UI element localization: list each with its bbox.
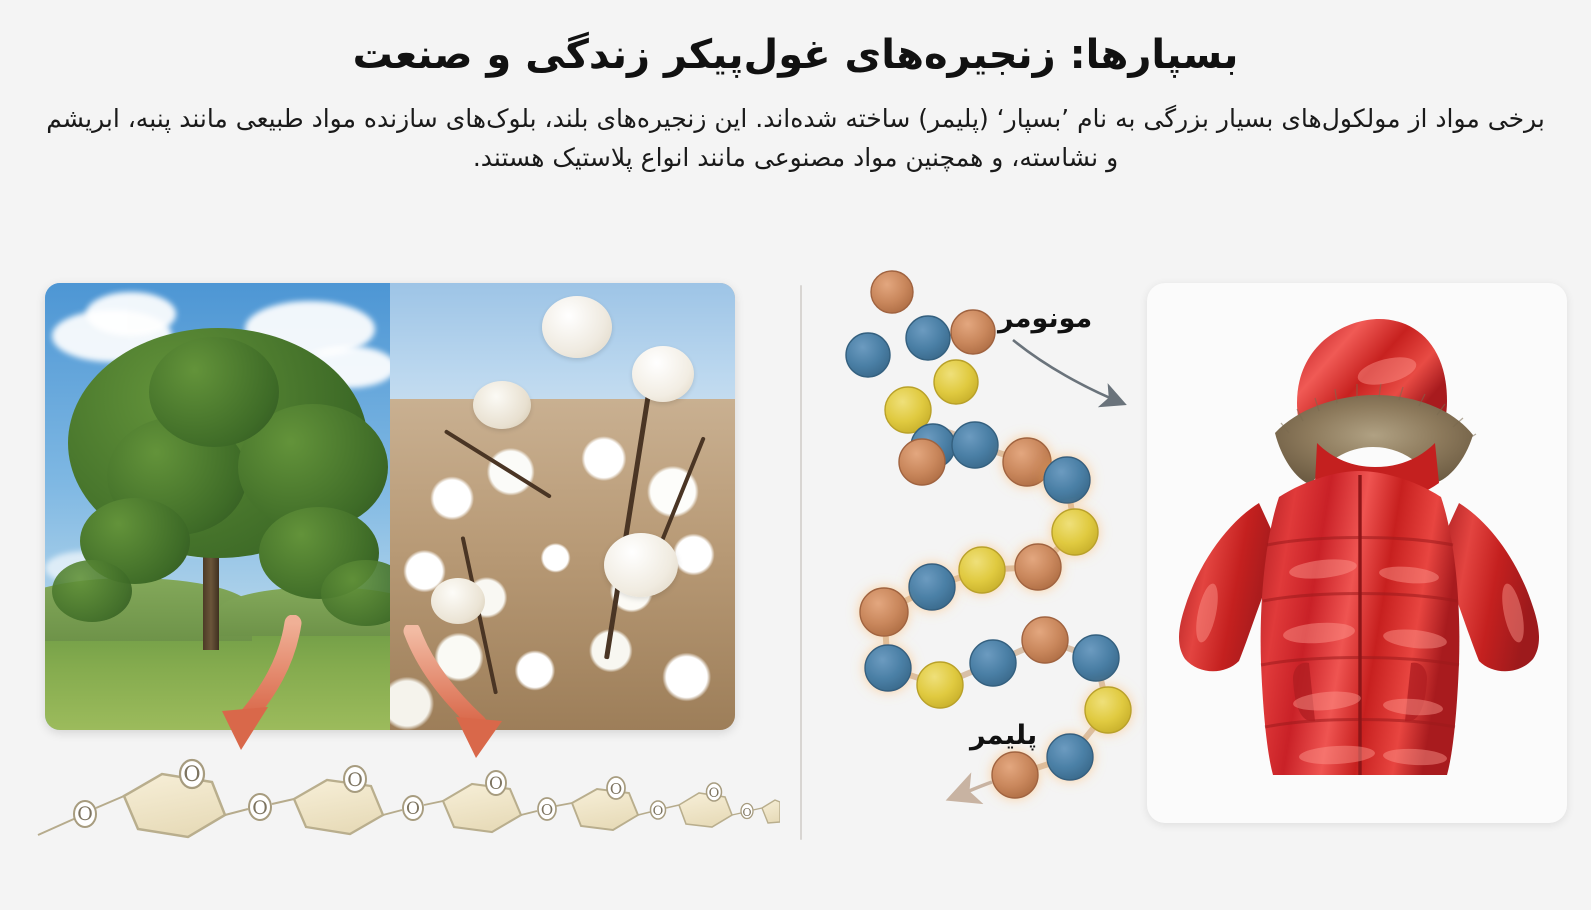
polymerization-diagram: مونومر پلیمر	[830, 270, 1160, 850]
polymer-chain-end-arrow	[952, 782, 992, 798]
cotton-boll	[473, 381, 531, 429]
polymer-label: پلیمر	[970, 720, 1037, 751]
oxygen-label: O	[183, 762, 200, 786]
bond	[753, 808, 762, 810]
monomer-circle-blue	[906, 316, 950, 360]
cotton-boll	[632, 346, 694, 402]
cloud	[86, 292, 176, 336]
polymer-node-blue	[1044, 457, 1090, 503]
bond	[272, 799, 294, 804]
bond	[424, 801, 443, 805]
red-puffer-jacket	[1147, 283, 1567, 823]
pyranose-ring	[124, 774, 225, 837]
page-description: برخی مواد از مولکول‌های بسیار بزرگی به ن…	[38, 100, 1553, 178]
chain-tail-bond	[38, 818, 76, 835]
bond	[556, 803, 572, 806]
cellulose-chain: O O O O O O	[20, 730, 780, 870]
polymer-node-copper	[860, 588, 908, 636]
polymer-node-copper	[992, 752, 1038, 798]
monomer-circle-copper	[951, 310, 995, 354]
polymer-svg	[830, 270, 1160, 850]
pyranose-ring	[443, 784, 521, 832]
oxygen-label: O	[77, 803, 93, 825]
polymer-node-copper	[1022, 617, 1068, 663]
polymer-node-blue	[1073, 635, 1119, 681]
monomer-circle-copper	[871, 271, 913, 313]
monomer-label: مونومر	[998, 303, 1092, 334]
oxygen-label: O	[709, 786, 720, 801]
header: بسپارها: زنجیره‌های غول‌پیکر زندگی و صنع…	[0, 30, 1591, 178]
oxygen-label: O	[541, 801, 553, 819]
pyranose-ring	[762, 800, 780, 823]
page-title: بسپارها: زنجیره‌های غول‌پیکر زندگی و صنع…	[30, 30, 1561, 80]
oxygen-label: O	[406, 799, 420, 819]
panel-divider	[800, 285, 802, 840]
polymer-node-blue	[865, 645, 911, 691]
polymer-node-yellow	[1085, 687, 1131, 733]
polymer-node-copper	[1015, 544, 1061, 590]
pyranose-ring	[572, 789, 638, 830]
bond	[521, 811, 537, 815]
polymer-node-blue	[1047, 734, 1093, 780]
monomer-to-product-arrow	[1013, 340, 1122, 403]
monomer-circle-blue	[846, 333, 890, 377]
monomer-circle-copper	[899, 439, 945, 485]
oxygen-label: O	[252, 797, 268, 819]
oxygen-label: O	[653, 804, 664, 819]
polymer-node-yellow	[1052, 509, 1098, 555]
polymer-node-blue	[970, 640, 1016, 686]
oxygen-label: O	[742, 806, 751, 819]
oxygen-label: O	[610, 780, 622, 798]
bond	[638, 812, 650, 815]
polymer-node-blue	[909, 564, 955, 610]
pyranose-ring	[294, 780, 383, 834]
content-area: O O O O O O	[0, 270, 1591, 910]
infographic-slide: بسپارها: زنجیره‌های غول‌پیکر زندگی و صنع…	[0, 0, 1591, 910]
polymer-node-blue	[952, 422, 998, 468]
polymer-node-yellow	[959, 547, 1005, 593]
polymer-node-yellow	[917, 662, 963, 708]
oxygen-label: O	[489, 774, 503, 794]
tree-canopy	[52, 560, 132, 622]
tree-canopy	[149, 337, 279, 447]
source-materials-photo-group	[45, 283, 735, 730]
bond	[96, 796, 124, 808]
bond	[225, 809, 248, 815]
product-card	[1147, 283, 1567, 823]
cotton-boll	[542, 296, 612, 358]
cotton-boll	[604, 533, 678, 597]
oxygen-label: O	[347, 769, 363, 791]
pyranose-ring	[679, 793, 732, 827]
bond	[666, 805, 679, 808]
bond	[383, 810, 402, 815]
bond	[732, 813, 741, 815]
monomer-circle-yellow	[934, 360, 978, 404]
